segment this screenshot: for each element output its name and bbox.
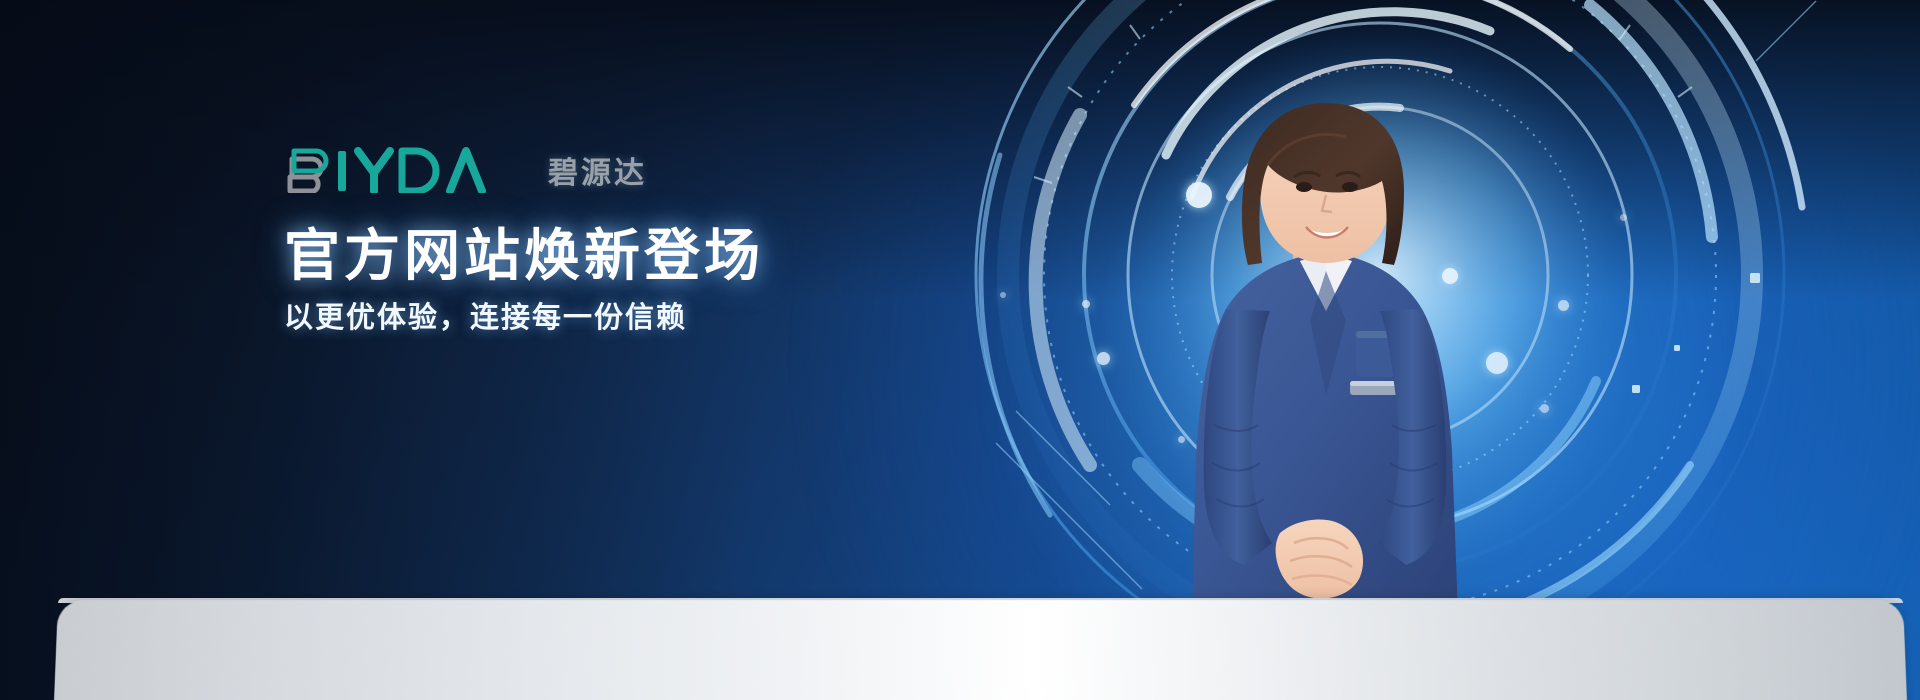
- brand-logo[interactable]: 碧源达: [284, 148, 1044, 192]
- page-title: 官方网站焕新登场: [284, 228, 1044, 284]
- stage-platform: [53, 600, 1908, 700]
- brand-logo-mark: [284, 147, 534, 193]
- brand-chinese-name: 碧源达: [548, 148, 647, 192]
- person-photo: [1160, 95, 1490, 615]
- hero-banner: 碧源达 官方网站焕新登场 以更优体验，连接每一份信赖: [0, 0, 1920, 700]
- page-subtitle: 以更优体验，连接每一份信赖: [284, 304, 1044, 333]
- hero-content: 碧源达 官方网站焕新登场 以更优体验，连接每一份信赖: [284, 148, 1044, 333]
- background-left-vignette: [0, 0, 760, 700]
